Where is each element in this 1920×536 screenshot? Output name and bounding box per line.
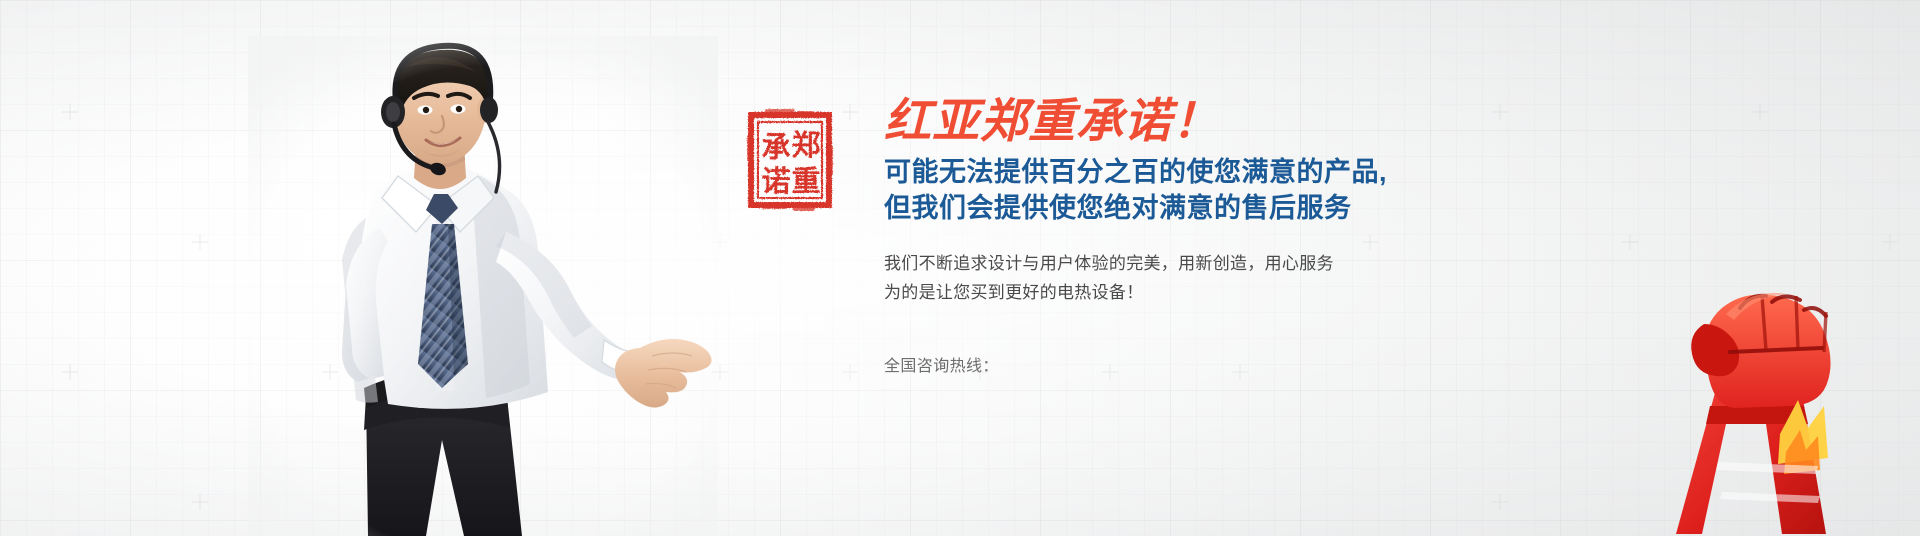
hotline-label: 全国咨询热线：	[884, 352, 1644, 376]
banner-body-line-1: 我们不断追求设计与用户体验的完美，用新创造，用心服务	[884, 249, 1644, 278]
customer-service-agent-photo	[248, 36, 718, 536]
seal-char-2: 郑	[791, 128, 820, 162]
seal-char-1: 承	[761, 130, 790, 164]
banner-subtitle-line-2: 但我们会提供使您绝对满意的售后服务	[884, 190, 1644, 226]
banner-subtitle-line-1: 可能无法提供百分之百的使您满意的产品,	[884, 154, 1644, 190]
seal-char-3: 诺	[761, 164, 790, 198]
banner-headline: 红亚郑重承诺！	[884, 96, 1644, 147]
seal-char-4: 重	[791, 164, 820, 198]
promise-banner: 承 郑 诺 重 红亚郑重承诺！ 可能无法提供百分之百的使您满意的产品,	[0, 0, 1920, 536]
raised-fist-graphic	[1590, 256, 1920, 536]
banner-body-line-2: 为的是让您买到更好的电热设备！	[884, 278, 1644, 307]
company-seal-stamp: 承 郑 诺 重	[745, 105, 837, 213]
banner-copy: 红亚郑重承诺！ 可能无法提供百分之百的使您满意的产品, 但我们会提供使您绝对满意…	[884, 96, 1644, 376]
